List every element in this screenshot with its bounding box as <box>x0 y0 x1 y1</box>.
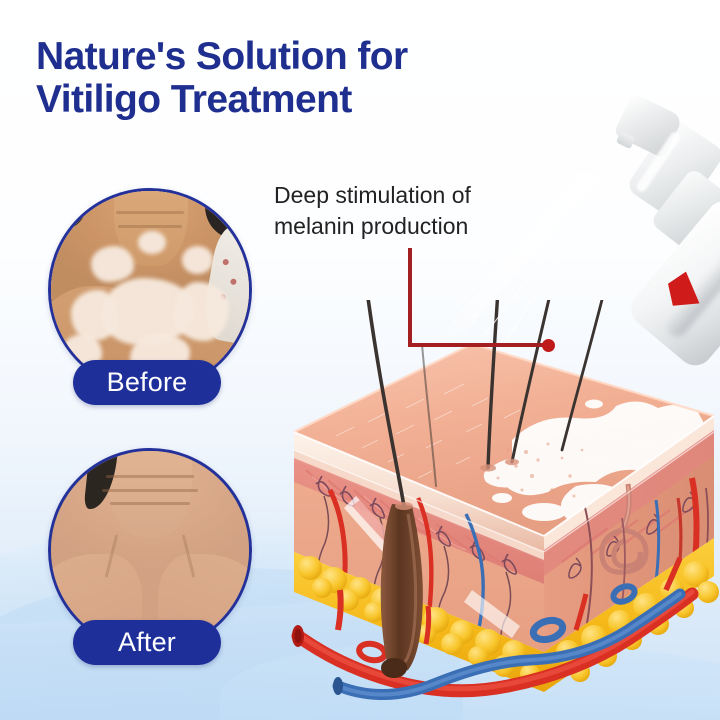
hair-follicle-main <box>381 504 423 678</box>
annotation-line-2: melanin production <box>274 211 564 242</box>
after-badge-label: After <box>118 627 176 658</box>
before-badge: Before <box>73 360 221 405</box>
after-badge: After <box>73 620 221 665</box>
headline-line-2: Vitiligo Treatment <box>36 79 556 122</box>
skin-cross-section-diagram <box>276 300 720 700</box>
pointer-dot <box>542 339 555 352</box>
ad-canvas: Nature's Solution for Vitiligo Treatment… <box>0 0 720 720</box>
before-badge-label: Before <box>107 367 188 398</box>
nozzle-tip <box>616 131 636 149</box>
headline-line-1: Nature's Solution for <box>36 35 408 78</box>
annotation-line-1: Deep stimulation of <box>274 180 564 211</box>
pointer-line-vertical <box>408 248 412 347</box>
page-title: Nature's Solution for Vitiligo Treatment <box>36 36 556 121</box>
pointer-line-horizontal <box>408 343 550 347</box>
annotation-text: Deep stimulation of melanin production <box>274 180 564 241</box>
